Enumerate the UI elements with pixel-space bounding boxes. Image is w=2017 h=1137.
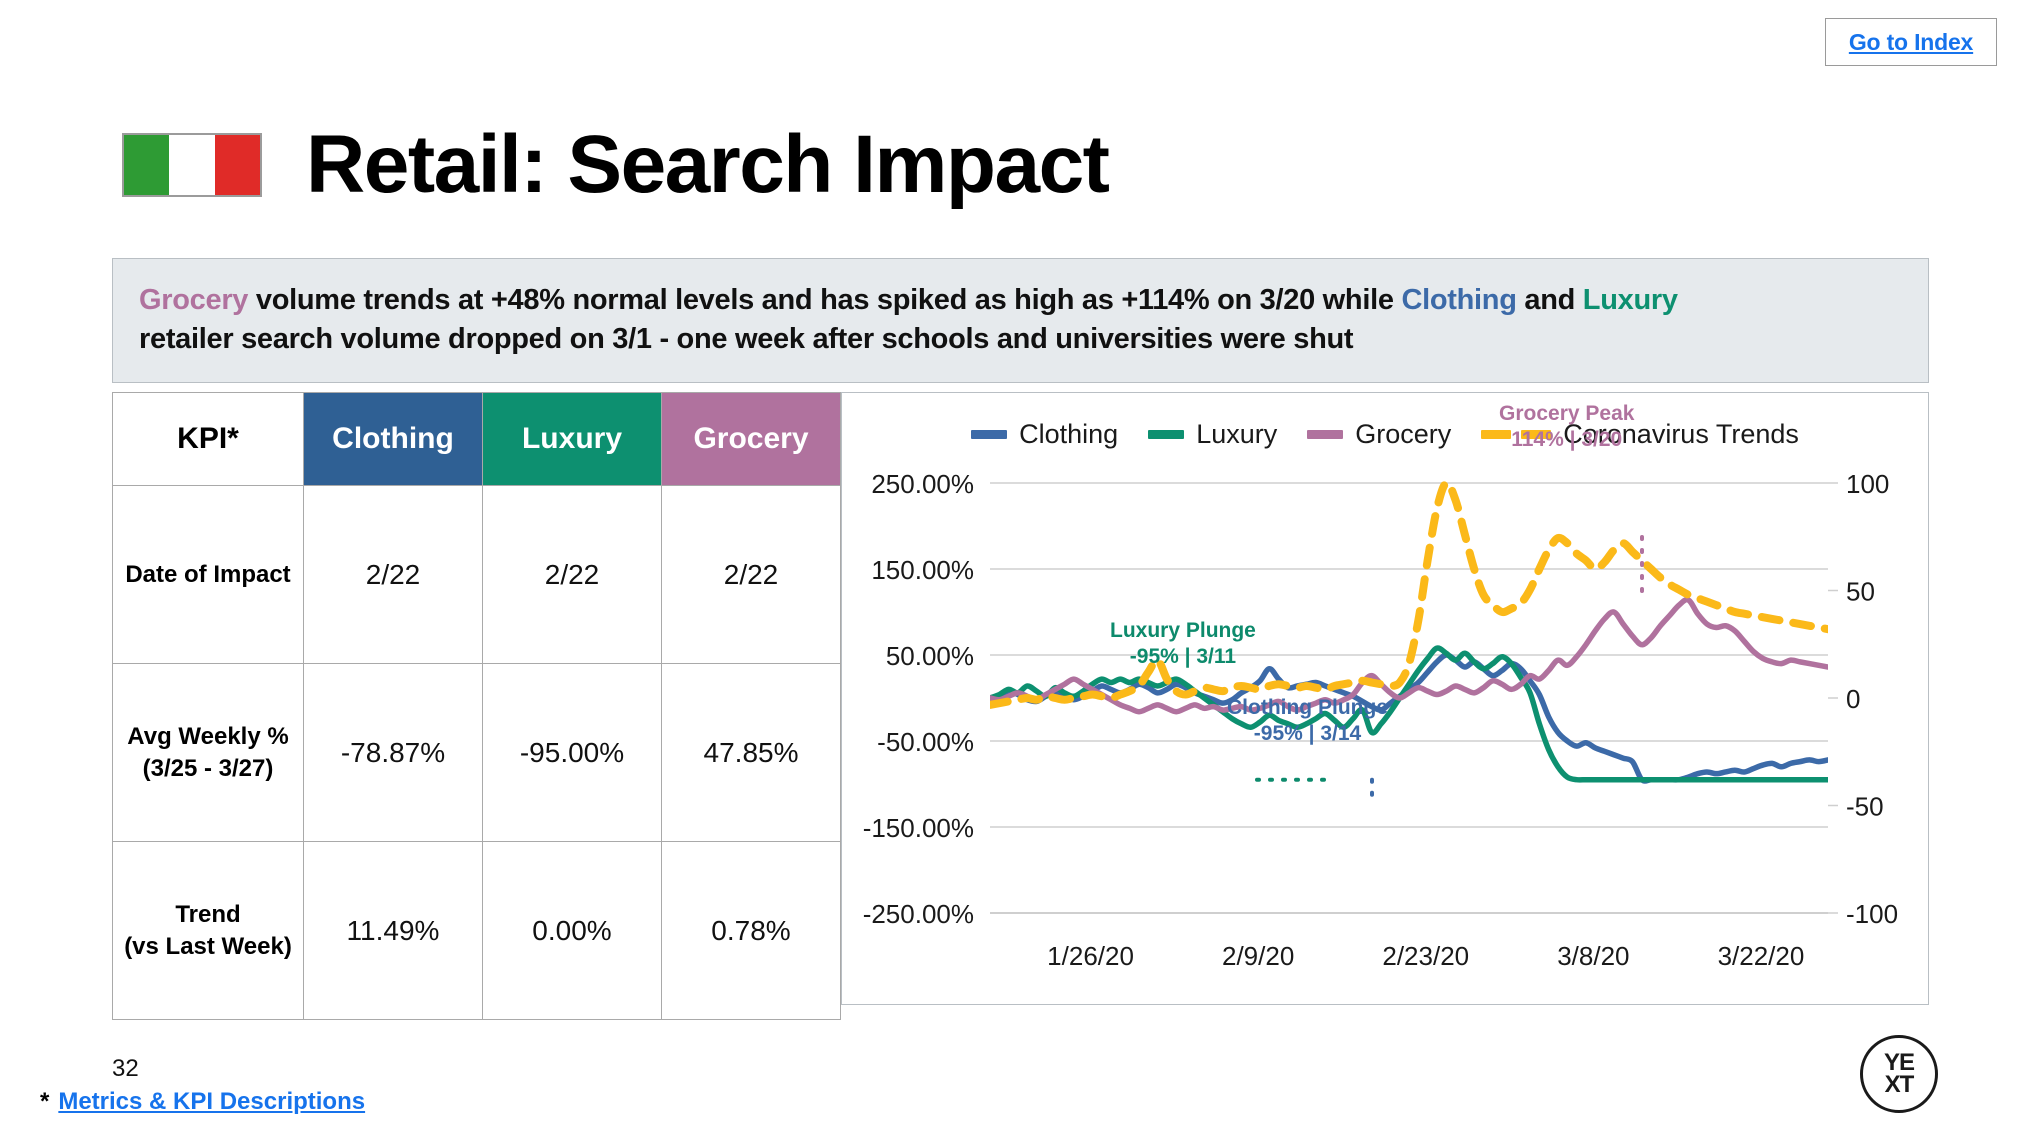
table-header-grocery: Grocery [662,393,841,486]
legend-label-clothing: Clothing [1019,419,1118,450]
page-number: 32 [112,1055,139,1083]
callout-luxury-term: Luxury [1583,284,1678,316]
italy-flag-icon [122,133,262,197]
annotation-clothing-plunge-line1: Clothing Plunge [1227,695,1388,721]
table-row: Date of Impact 2/22 2/22 2/22 [113,486,841,664]
cell-luxury: 2/22 [483,486,662,664]
table-header-clothing: Clothing [304,393,483,486]
table-row: Avg Weekly % (3/25 - 3/27) -78.87% -95.0… [113,664,841,842]
cell-grocery: 47.85% [662,664,841,842]
svg-text:0: 0 [1846,684,1860,714]
cell-luxury: -95.00% [483,664,662,842]
svg-text:2/23/20: 2/23/20 [1382,941,1469,971]
legend-item-luxury[interactable]: Luxury [1148,419,1277,450]
legend-item-grocery[interactable]: Grocery [1307,419,1451,450]
legend-swatch-grocery [1307,430,1343,439]
svg-text:2/9/20: 2/9/20 [1222,941,1294,971]
row-label-line1: Date of Impact [125,561,290,588]
go-to-index-button[interactable]: Go to Index [1825,18,1997,66]
row-label: Trend (vs Last Week) [113,842,304,1020]
row-label-line2: (3/25 - 3/27) [143,755,274,782]
metrics-kpi-descriptions-link[interactable]: Metrics & KPI Descriptions [58,1088,365,1116]
legend-label-luxury: Luxury [1196,419,1277,450]
legend-swatch-luxury [1148,430,1184,439]
annotation-luxury-plunge-line2: -95% | 3/11 [1110,644,1256,670]
svg-text:50.00%: 50.00% [886,641,974,671]
page-header: Retail: Search Impact [122,124,1108,206]
cell-clothing: 2/22 [304,486,483,664]
legend-label-grocery: Grocery [1355,419,1451,450]
chart-legend: Clothing Luxury Grocery Coronavirus Tren… [842,419,1928,450]
cell-clothing: 11.49% [304,842,483,1020]
legend-item-clothing[interactable]: Clothing [971,419,1118,450]
callout-text-2: and [1517,284,1583,316]
callout-text-1: volume trends at +48% normal levels and … [248,284,1401,316]
table-row: Trend (vs Last Week) 11.49% 0.00% 0.78% [113,842,841,1020]
footnote-asterisk: * [40,1088,49,1116]
yext-logo: YE XT [1860,1035,1938,1113]
table-header-row: KPI* Clothing Luxury Grocery [113,393,841,486]
legend-swatch-clothing [971,430,1007,439]
cell-clothing: -78.87% [304,664,483,842]
annotation-grocery-peak: Grocery Peak 114% | 3/20 [1499,401,1634,454]
yext-logo-line2: XT [1885,1074,1914,1096]
insight-callout: Grocery volume trends at +48% normal lev… [112,258,1929,383]
svg-text:150.00%: 150.00% [871,555,974,585]
svg-text:3/8/20: 3/8/20 [1557,941,1629,971]
callout-grocery-term: Grocery [139,284,248,316]
flag-stripe-white [169,135,214,195]
svg-text:-50: -50 [1846,792,1884,822]
svg-text:250.00%: 250.00% [871,469,974,499]
go-to-index-label: Go to Index [1849,29,1973,56]
callout-clothing-term: Clothing [1401,284,1516,316]
svg-text:50: 50 [1846,577,1875,607]
svg-text:-250.00%: -250.00% [863,899,974,929]
search-trends-chart: Clothing Luxury Grocery Coronavirus Tren… [841,392,1929,1005]
cell-grocery: 2/22 [662,486,841,664]
annotation-grocery-peak-line1: Grocery Peak [1499,401,1634,427]
svg-text:-150.00%: -150.00% [863,813,974,843]
kpi-table: KPI* Clothing Luxury Grocery Date of Imp… [112,392,841,1020]
annotation-luxury-plunge-line1: Luxury Plunge [1110,618,1256,644]
svg-text:-50.00%: -50.00% [877,727,974,757]
svg-text:3/22/20: 3/22/20 [1718,941,1805,971]
cell-luxury: 0.00% [483,842,662,1020]
svg-text:-100: -100 [1846,899,1898,929]
table-header-kpi: KPI* [113,393,304,486]
footnote: * Metrics & KPI Descriptions [40,1088,365,1116]
annotation-grocery-peak-line2: 114% | 3/20 [1499,427,1634,453]
row-label: Avg Weekly % (3/25 - 3/27) [113,664,304,842]
svg-text:100: 100 [1846,469,1889,499]
cell-grocery: 0.78% [662,842,841,1020]
annotation-luxury-plunge: Luxury Plunge -95% | 3/11 [1110,618,1256,671]
annotation-clothing-plunge-line2: -95% | 3/14 [1227,721,1388,747]
row-label-line1: Trend [175,901,240,928]
flag-stripe-red [215,135,260,195]
row-label: Date of Impact [113,486,304,664]
page-title: Retail: Search Impact [306,124,1108,206]
annotation-clothing-plunge: Clothing Plunge -95% | 3/14 [1227,695,1388,748]
svg-text:1/26/20: 1/26/20 [1047,941,1134,971]
table-header-luxury: Luxury [483,393,662,486]
row-label-line1: Avg Weekly % [127,723,288,750]
row-label-line2: (vs Last Week) [124,933,292,960]
callout-line-2: retailer search volume dropped on 3/1 - … [139,323,1353,355]
flag-stripe-green [124,135,169,195]
